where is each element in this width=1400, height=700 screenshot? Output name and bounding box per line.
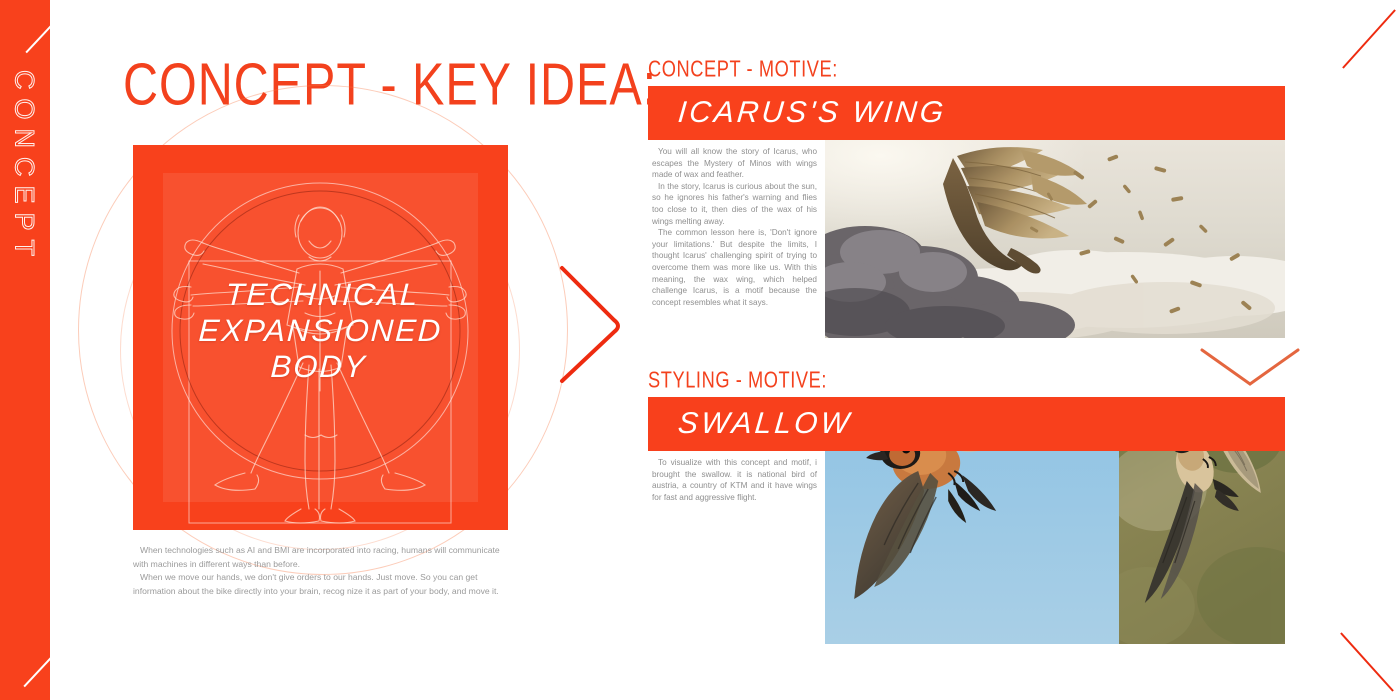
hero-concept-card: TECHNICAL EXPANSIONED BODY <box>133 145 508 530</box>
icarus-panel-body: You will all know the story of Icarus, w… <box>648 140 1285 338</box>
icarus-image <box>825 140 1285 338</box>
icarus-banner: ICARUS'S WING <box>648 86 1285 140</box>
icarus-paragraph-1: You will all know the story of Icarus, w… <box>652 146 817 181</box>
icarus-banner-title: ICARUS'S WING <box>677 96 948 130</box>
sidebar-rail: CONCEPT <box>0 0 50 700</box>
icarus-paragraph-2: In the story, Icarus is curious about th… <box>652 181 817 227</box>
slide-canvas: CONCEPT CONCEPT - KEY IDEA: <box>0 0 1400 700</box>
hero-title-line-3: BODY <box>130 349 507 385</box>
hero-title-line-2: EXPANSIONED <box>132 313 509 349</box>
icarus-text-column: You will all know the story of Icarus, w… <box>648 140 825 338</box>
left-body-paragraph-2: When we move our hands, we don't give or… <box>133 571 511 598</box>
corner-tick-top-right-icon <box>1342 9 1396 68</box>
left-body-paragraph-1: When technologies such as AI and BMI are… <box>133 544 511 571</box>
swallow-text-column: To visualize with this concept and motif… <box>648 451 825 644</box>
left-body-copy: When technologies such as AI and BMI are… <box>133 544 511 598</box>
concept-motive-heading: CONCEPT - MOTIVE: <box>648 57 838 84</box>
swallow-paragraph-1: To visualize with this concept and motif… <box>652 457 817 503</box>
swallow-panel: To visualize with this concept and motif… <box>648 397 1285 644</box>
chevron-right-icon <box>552 262 632 387</box>
rail-slash-top-icon <box>25 1 74 54</box>
icarus-panel: You will all know the story of Icarus, w… <box>648 86 1285 338</box>
swallow-banner: SWALLOW <box>648 397 1285 451</box>
icarus-paragraph-3: The common lesson here is, 'Don't ignore… <box>652 227 817 308</box>
chevron-down-icon <box>1196 344 1304 390</box>
hero-title-line-1: TECHNICAL <box>134 277 511 313</box>
hero-title: TECHNICAL EXPANSIONED BODY <box>130 277 511 385</box>
swallow-banner-title: SWALLOW <box>677 407 854 441</box>
styling-motive-heading: STYLING - MOTIVE: <box>648 368 827 395</box>
sidebar-vertical-label: CONCEPT <box>9 68 40 268</box>
corner-tick-bottom-right-icon <box>1340 632 1394 691</box>
rail-slash-bottom-icon <box>23 635 72 688</box>
